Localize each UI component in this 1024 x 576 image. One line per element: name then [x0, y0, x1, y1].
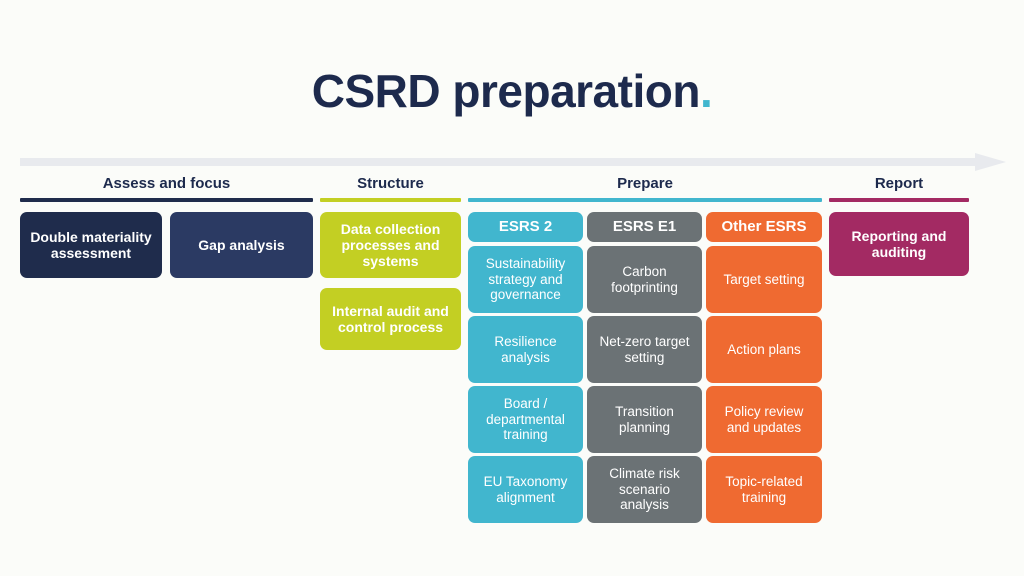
- phase-header-report: Report: [829, 175, 969, 203]
- card-gap-analysis[interactable]: Gap analysis: [170, 212, 313, 278]
- card-data-collection-processes[interactable]: Data collection processes and systems: [320, 212, 461, 278]
- phase-rule-report: [829, 198, 969, 202]
- card-label: Carbon footprinting: [594, 264, 695, 295]
- arrow-bar: [20, 158, 975, 166]
- card-other-esrs-item-3[interactable]: Policy review and updates: [706, 386, 822, 453]
- column-header-esrs2[interactable]: ESRS 2: [468, 212, 583, 242]
- card-other-esrs-item-4[interactable]: Topic-related training: [706, 456, 822, 523]
- column-header-label: ESRS 2: [499, 218, 552, 235]
- card-label: Net-zero target setting: [594, 334, 695, 365]
- column-header-label: ESRS E1: [613, 218, 676, 235]
- card-esrs-e1-item-3[interactable]: Transition planning: [587, 386, 702, 453]
- card-label: Action plans: [727, 342, 801, 358]
- phase-header-structure: Structure: [320, 175, 461, 203]
- card-double-materiality-assessment[interactable]: Double materiality assessment: [20, 212, 162, 278]
- card-reporting-and-auditing[interactable]: Reporting and auditing: [829, 212, 969, 276]
- column-header-other-esrs[interactable]: Other ESRS: [706, 212, 822, 242]
- card-esrs2-item-3[interactable]: Board / departmental training: [468, 386, 583, 453]
- phase-rule-assess: [20, 198, 313, 202]
- card-label: Resilience analysis: [475, 334, 576, 365]
- card-label: Internal audit and control process: [327, 303, 454, 335]
- card-other-esrs-item-2[interactable]: Action plans: [706, 316, 822, 383]
- phase-label-assess: Assess and focus: [20, 175, 313, 193]
- card-esrs2-item-4[interactable]: EU Taxonomy alignment: [468, 456, 583, 523]
- phase-rule-structure: [320, 198, 461, 202]
- column-header-label: Other ESRS: [721, 218, 806, 235]
- phase-rule-prepare: [468, 198, 822, 202]
- card-label: Climate risk scenario analysis: [594, 466, 695, 513]
- page-title-text: CSRD preparation: [312, 65, 700, 117]
- card-label: Double materiality assessment: [27, 229, 155, 261]
- card-label: Reporting and auditing: [836, 228, 962, 260]
- card-label: Target setting: [723, 272, 804, 288]
- card-label: Gap analysis: [198, 237, 284, 253]
- card-label: Sustainability strategy and governance: [475, 256, 576, 303]
- phase-header-assess: Assess and focus: [20, 175, 313, 203]
- card-label: EU Taxonomy alignment: [475, 474, 576, 505]
- card-esrs-e1-item-2[interactable]: Net-zero target setting: [587, 316, 702, 383]
- card-label: Transition planning: [594, 404, 695, 435]
- card-esrs2-item-2[interactable]: Resilience analysis: [468, 316, 583, 383]
- phase-label-report: Report: [829, 175, 969, 193]
- card-label: Data collection processes and systems: [327, 221, 454, 269]
- arrow-head-icon: [975, 153, 1006, 171]
- card-esrs-e1-item-4[interactable]: Climate risk scenario analysis: [587, 456, 702, 523]
- card-esrs2-item-1[interactable]: Sustainability strategy and governance: [468, 246, 583, 313]
- card-label: Policy review and updates: [713, 404, 815, 435]
- card-esrs-e1-item-1[interactable]: Carbon footprinting: [587, 246, 702, 313]
- column-header-esrs-e1[interactable]: ESRS E1: [587, 212, 702, 242]
- card-other-esrs-item-1[interactable]: Target setting: [706, 246, 822, 313]
- card-label: Board / departmental training: [475, 396, 576, 443]
- page-title: CSRD preparation.: [0, 64, 1024, 118]
- process-flow-arrow: [20, 153, 1006, 171]
- phase-header-prepare: Prepare: [468, 175, 822, 203]
- card-label: Topic-related training: [713, 474, 815, 505]
- card-internal-audit-control[interactable]: Internal audit and control process: [320, 288, 461, 350]
- phase-label-structure: Structure: [320, 175, 461, 193]
- title-accent-dot: .: [700, 65, 712, 117]
- phase-label-prepare: Prepare: [468, 175, 822, 193]
